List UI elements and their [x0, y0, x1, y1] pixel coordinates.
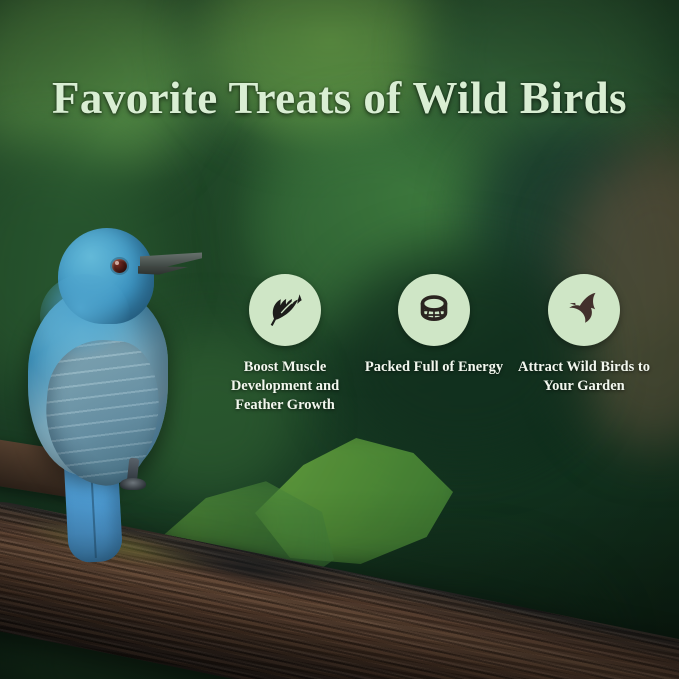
feature-list: Boost Muscle Development and Feather Gro…	[210, 274, 679, 415]
feature-label: Boost Muscle Development and Feather Gro…	[218, 358, 352, 415]
feature-label: Packed Full of Energy	[361, 358, 507, 377]
suet-cake-icon	[414, 290, 454, 330]
feature-item-boost-muscle: Boost Muscle Development and Feather Gro…	[210, 274, 360, 415]
feature-label: Attract Wild Birds to Your Garden	[514, 358, 654, 396]
flying-bird-icon	[564, 290, 604, 330]
feature-icon-badge	[398, 274, 470, 346]
page-title: Favorite Treats of Wild Birds	[0, 72, 679, 124]
feature-item-energy: Packed Full of Energy	[360, 274, 508, 377]
feature-item-attract-birds: Attract Wild Birds to Your Garden	[508, 274, 660, 396]
feature-icon-badge	[249, 274, 321, 346]
feature-icon-badge	[548, 274, 620, 346]
feather-icon	[265, 290, 305, 330]
product-lifestyle-image: Favorite Treats of Wild Birds Boost Musc…	[0, 0, 679, 679]
